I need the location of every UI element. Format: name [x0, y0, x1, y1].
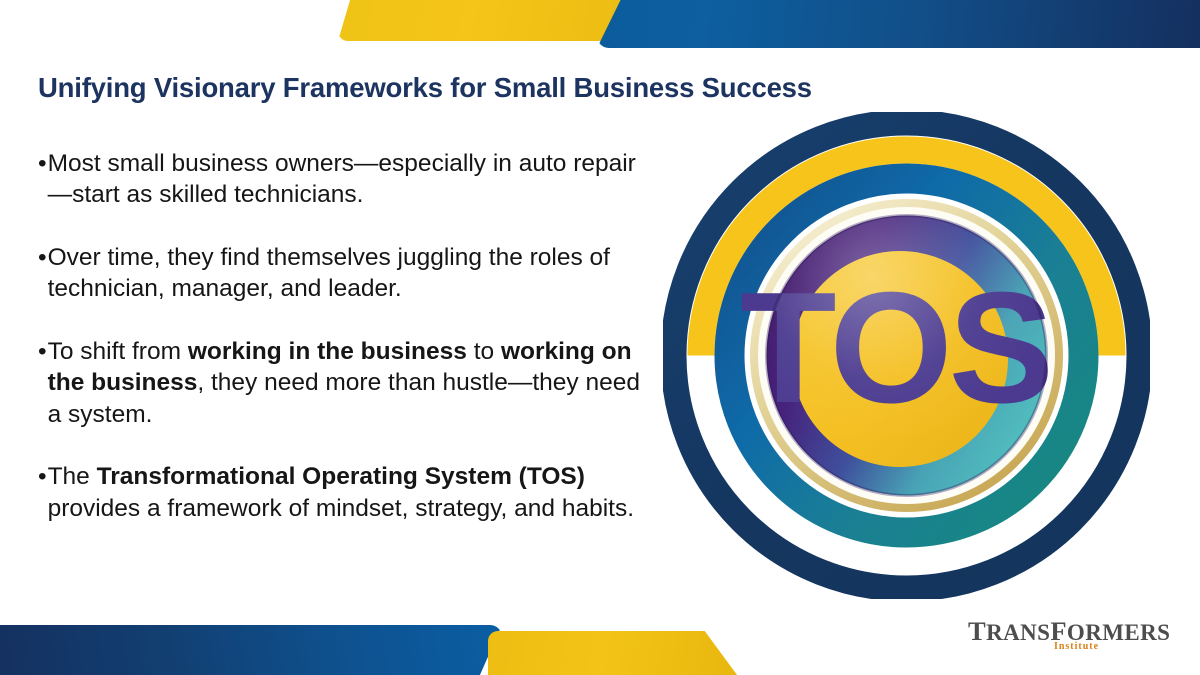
- bullet-text-run: to: [467, 338, 501, 365]
- bullet-text-run: Most small business owners—especially in…: [48, 150, 636, 208]
- bullet-marker-icon: •: [38, 461, 47, 492]
- bullet-text-emphasis: Transformational Operating System (TOS): [97, 463, 585, 490]
- bullet-item: •To shift from working in the business t…: [38, 336, 653, 430]
- brand-letter: S: [1157, 620, 1170, 645]
- bottom-yellow-banner: [488, 631, 740, 675]
- bullet-marker-icon: •: [38, 336, 47, 367]
- slide-canvas: Unifying Visionary Frameworks for Small …: [0, 0, 1200, 675]
- brand-letter: N: [1020, 620, 1037, 645]
- bullet-text-run: The: [48, 463, 97, 490]
- bullet-text: Over time, they find themselves juggling…: [48, 242, 653, 305]
- bullet-list: •Most small business owners—especially i…: [38, 148, 653, 524]
- bullet-text-run: Over time, they find themselves juggling…: [48, 244, 610, 302]
- brand-letter: R: [986, 620, 1003, 645]
- bullet-text-emphasis: working in the business: [188, 338, 467, 365]
- corner-brand-logo: TRANSFORMERS Institute: [968, 618, 1143, 660]
- brand-letter: E: [1124, 620, 1140, 645]
- bullet-item: •The Transformational Operating System (…: [38, 461, 653, 524]
- bullet-marker-icon: •: [38, 148, 47, 179]
- brand-letter: A: [1003, 620, 1020, 645]
- bottom-blue-banner: [0, 625, 502, 675]
- bullet-item: •Over time, they find themselves jugglin…: [38, 242, 653, 305]
- bullet-text-run: provides a framework of mindset, strateg…: [48, 495, 634, 522]
- top-blue-banner: [597, 0, 1200, 48]
- brand-letter: M: [1102, 620, 1124, 645]
- brand-letter: S: [1037, 620, 1050, 645]
- brand-letter: R: [1140, 620, 1157, 645]
- tos-emblem: TOS: [663, 112, 1150, 599]
- bullet-text: The Transformational Operating System (T…: [48, 461, 653, 524]
- emblem-wordmark: TOS: [740, 260, 1050, 436]
- bullet-item: •Most small business owners—especially i…: [38, 148, 653, 211]
- svg-text:TOS: TOS: [740, 260, 1050, 436]
- bullet-text-run: To shift from: [48, 338, 188, 365]
- bullet-text: To shift from working in the business to…: [48, 336, 653, 430]
- brand-letter: T: [968, 616, 986, 646]
- bullet-text: Most small business owners—especially in…: [48, 148, 653, 211]
- page-title: Unifying Visionary Frameworks for Small …: [38, 72, 918, 104]
- bullet-marker-icon: •: [38, 242, 47, 273]
